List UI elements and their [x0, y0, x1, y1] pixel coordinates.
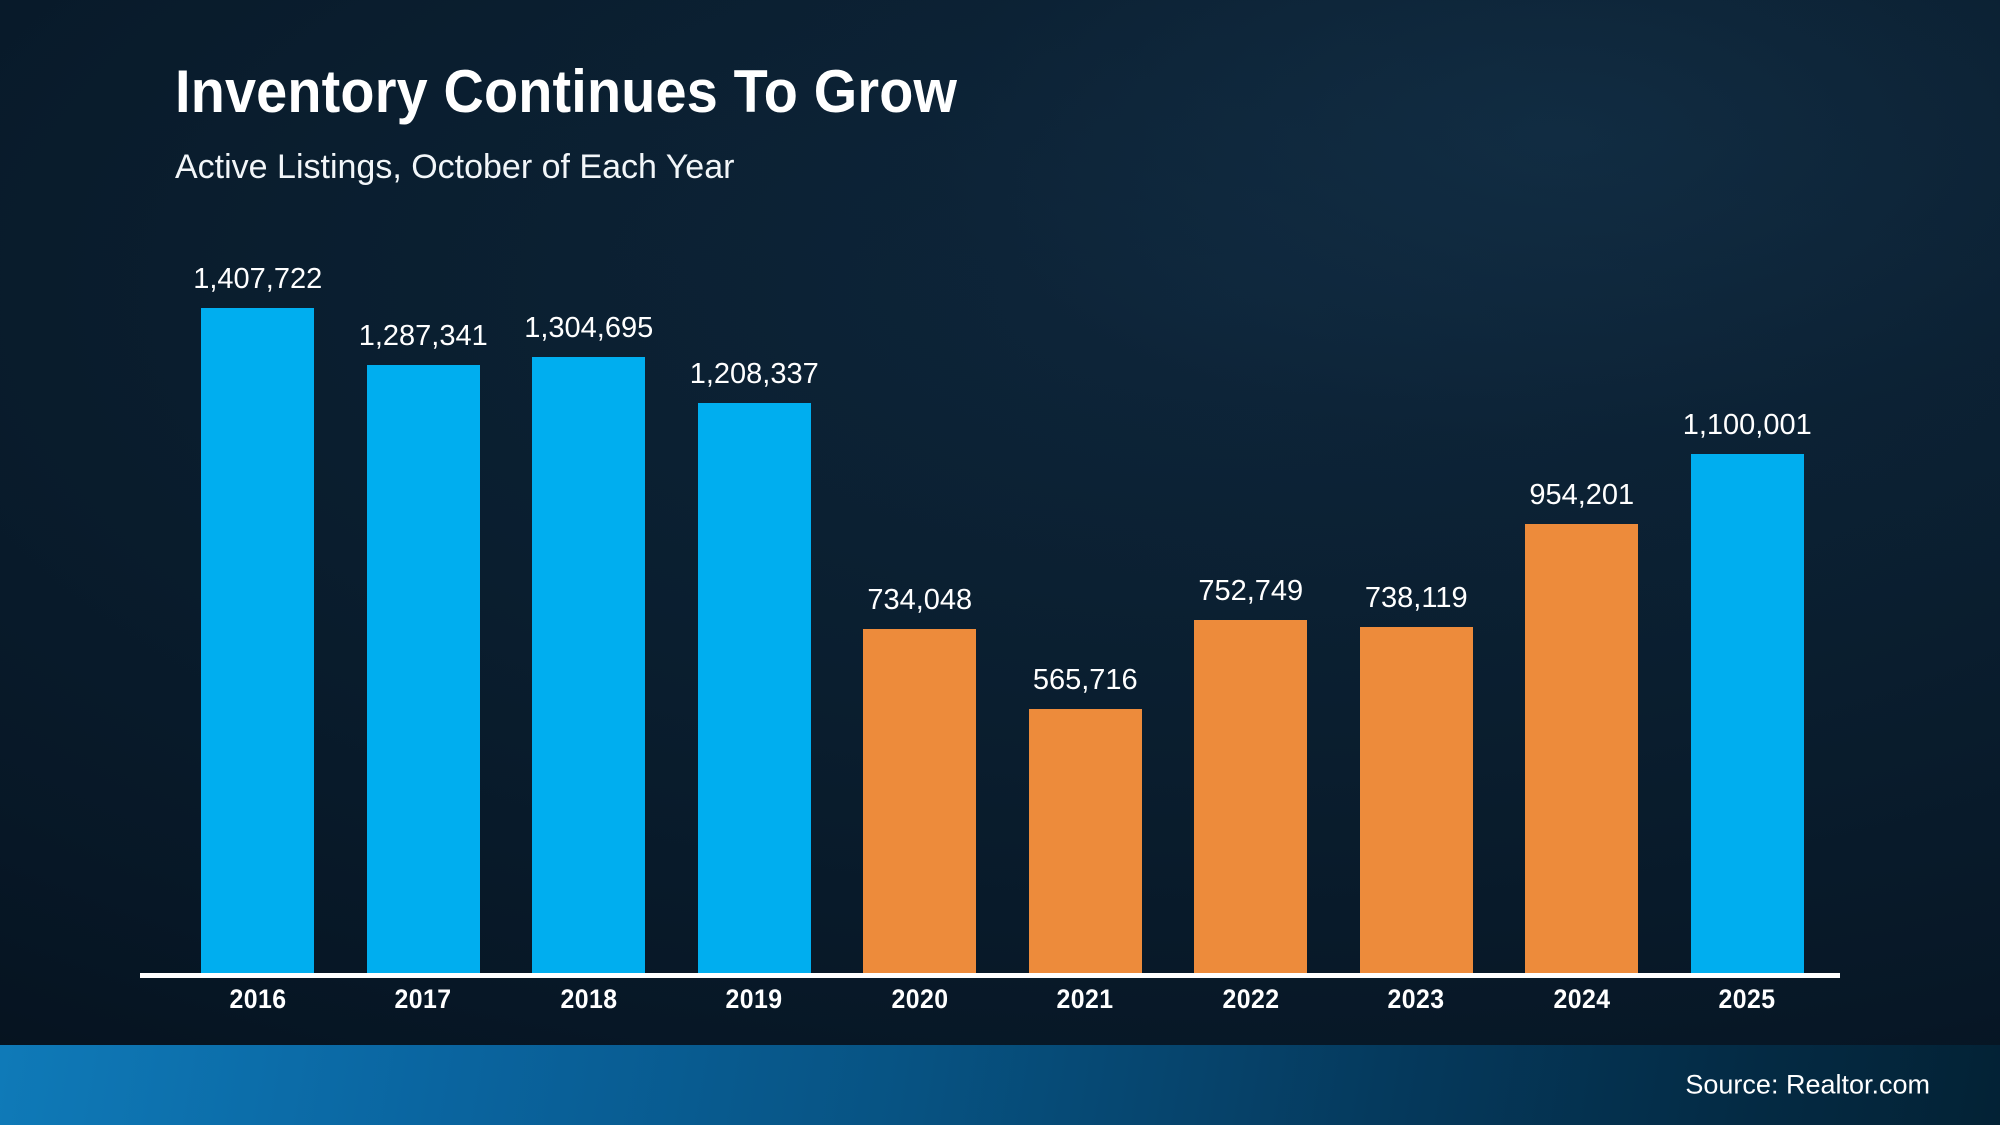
bar-group: 565,716: [1003, 250, 1169, 978]
bar-rect[interactable]: [201, 308, 314, 978]
page-title: Inventory Continues To Grow: [175, 62, 957, 122]
bar-group: 734,048: [837, 250, 1003, 978]
x-axis-line: [140, 973, 1840, 978]
bar-rect[interactable]: [1360, 627, 1473, 978]
x-axis-tick-label: 2017: [395, 984, 452, 1015]
x-axis-tick-slot: 2019: [672, 984, 838, 1015]
footer-bar: Source: Realtor.com: [0, 1045, 2000, 1125]
bar-rect[interactable]: [532, 357, 645, 978]
x-axis-tick-slot: 2016: [175, 984, 341, 1015]
bar-value-label: 1,100,001: [1683, 411, 1812, 440]
x-axis-tick-label: 2025: [1719, 984, 1776, 1015]
x-axis-tick-slot: 2020: [837, 984, 1003, 1015]
bar-rect[interactable]: [1029, 709, 1142, 978]
x-axis-tick-label: 2023: [1388, 984, 1445, 1015]
source-attribution: Source: Realtor.com: [1685, 1070, 1930, 1101]
bar-value-label: 738,119: [1365, 584, 1468, 613]
bar-group: 1,100,001: [1665, 250, 1831, 978]
bar-value-label: 1,287,341: [359, 322, 488, 351]
x-axis-tick-slot: 2017: [341, 984, 507, 1015]
x-axis-tick-slot: 2025: [1665, 984, 1831, 1015]
bar-rect[interactable]: [1194, 620, 1307, 978]
bar-group: 954,201: [1499, 250, 1665, 978]
bar-value-label: 565,716: [1033, 666, 1138, 695]
bar-value-label: 954,201: [1529, 481, 1634, 510]
bar-group: 1,208,337: [672, 250, 838, 978]
bar-rect[interactable]: [863, 629, 976, 978]
x-axis-tick-slot: 2021: [1003, 984, 1169, 1015]
x-axis-tick-label: 2024: [1553, 984, 1610, 1015]
bar-chart-plot-area: 1,407,7221,287,3411,304,6951,208,337734,…: [175, 250, 1830, 978]
x-axis-tick-label: 2018: [560, 984, 617, 1015]
bar-value-label: 1,407,722: [193, 265, 322, 294]
bar-group: 752,749: [1168, 250, 1334, 978]
x-axis-tick-label: 2019: [726, 984, 783, 1015]
bar-value-label: 1,208,337: [690, 360, 819, 389]
bar-rect[interactable]: [1691, 454, 1804, 978]
x-axis-tick-label: 2021: [1057, 984, 1114, 1015]
page-subtitle: Active Listings, October of Each Year: [175, 150, 1016, 184]
slide-canvas: Inventory Continues To Grow Active Listi…: [0, 0, 2000, 1125]
x-axis-tick-slot: 2024: [1499, 984, 1665, 1015]
bar-rect[interactable]: [698, 403, 811, 978]
x-axis-tick-labels: 2016201720182019202020212022202320242025: [175, 984, 1830, 1015]
heading-block: Inventory Continues To Grow Active Listi…: [175, 62, 1016, 184]
bar-group: 1,407,722: [175, 250, 341, 978]
bar-value-label: 1,304,695: [524, 314, 653, 343]
x-axis-tick-slot: 2023: [1334, 984, 1500, 1015]
bar-series: 1,407,7221,287,3411,304,6951,208,337734,…: [175, 250, 1830, 978]
bar-value-label: 752,749: [1198, 577, 1303, 606]
bar-value-label: 734,048: [867, 586, 972, 615]
x-axis-tick-slot: 2018: [506, 984, 672, 1015]
bar-group: 1,304,695: [506, 250, 672, 978]
bar-group: 738,119: [1334, 250, 1500, 978]
x-axis-tick-slot: 2022: [1168, 984, 1334, 1015]
x-axis-tick-label: 2016: [229, 984, 286, 1015]
x-axis-tick-label: 2020: [891, 984, 948, 1015]
bar-rect[interactable]: [367, 365, 480, 978]
x-axis-tick-label: 2022: [1222, 984, 1279, 1015]
bar-group: 1,287,341: [341, 250, 507, 978]
bar-rect[interactable]: [1525, 524, 1638, 978]
